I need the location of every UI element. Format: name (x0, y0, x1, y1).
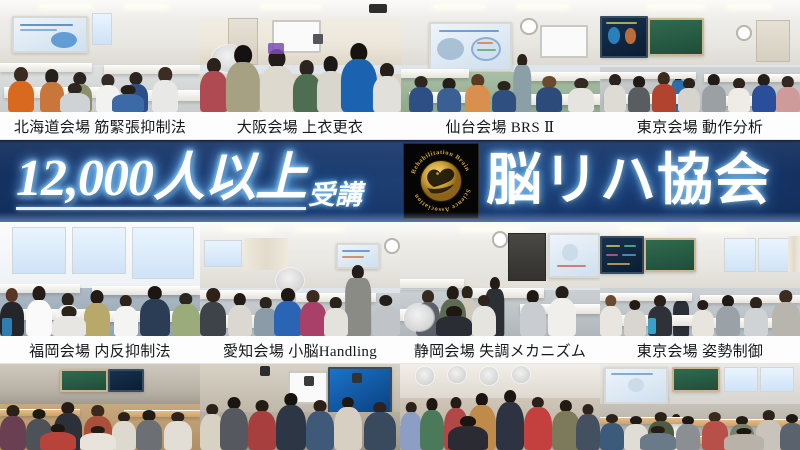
caption-fukuoka: 福岡会場 内反抑制法 (0, 340, 200, 361)
headline-attendee-count: 12,000人以上 (16, 153, 306, 210)
photo-seminar-photographing-demo (200, 364, 400, 450)
photo-osaka-seminar (200, 0, 401, 112)
photo-row-top (0, 0, 800, 112)
caption-tokyo: 東京会場 動作分析 (600, 116, 800, 137)
caption-aichi: 愛知会場 小脳Handling (200, 340, 400, 361)
rehabilitation-brain-science-association-logo: Rehabilitation Brain Science Association (404, 144, 478, 218)
photo-row-bottom (0, 364, 800, 450)
photo-sendai-seminar (401, 0, 600, 112)
banner-bottom-edge (0, 212, 800, 222)
caption-band-top: 北海道会場 筋緊張抑制法 大阪会場 上衣更衣 仙台会場 BRS Ⅱ 東京会場 動… (0, 112, 800, 140)
photo-shizuoka-seminar (400, 222, 600, 336)
photo-seminar-standing-practice (400, 364, 600, 450)
photo-fukuoka-seminar (0, 222, 200, 336)
caption-sendai: 仙台会場 BRS Ⅱ (400, 116, 600, 137)
caption-tokyo2: 東京会場 姿勢制御 (600, 340, 800, 361)
caption-band-bottom: 福岡会場 内反抑制法 愛知会場 小脳Handling 静岡会場 失調メカニズム … (0, 336, 800, 364)
photo-tokyo2-seminar (600, 222, 800, 336)
headline-banner: 12,000人以上 受講 (0, 140, 800, 222)
caption-hokkaido: 北海道会場 筋緊張抑制法 (0, 116, 200, 137)
promotional-banner-page: 北海道会場 筋緊張抑制法 大阪会場 上衣更衣 仙台会場 BRS Ⅱ 東京会場 動… (0, 0, 800, 450)
photo-tokyo-seminar (600, 0, 800, 112)
photo-aichi-seminar (200, 222, 400, 336)
photo-hokkaido-seminar (0, 0, 200, 112)
caption-osaka: 大阪会場 上衣更衣 (200, 116, 400, 137)
photo-seminar-room-wood-floor (0, 364, 200, 450)
association-name: 脳リハ協会 (486, 153, 771, 209)
headline-left-group: 12,000人以上 受講 (16, 140, 362, 222)
headline-suffix: 受講 (308, 173, 362, 212)
caption-shizuoka: 静岡会場 失調メカニズム (400, 340, 600, 361)
headline-right-group: Rehabilitation Brain Science Association… (404, 140, 771, 222)
photo-row-middle (0, 222, 800, 336)
photo-seminar-large-lecture (600, 364, 800, 450)
